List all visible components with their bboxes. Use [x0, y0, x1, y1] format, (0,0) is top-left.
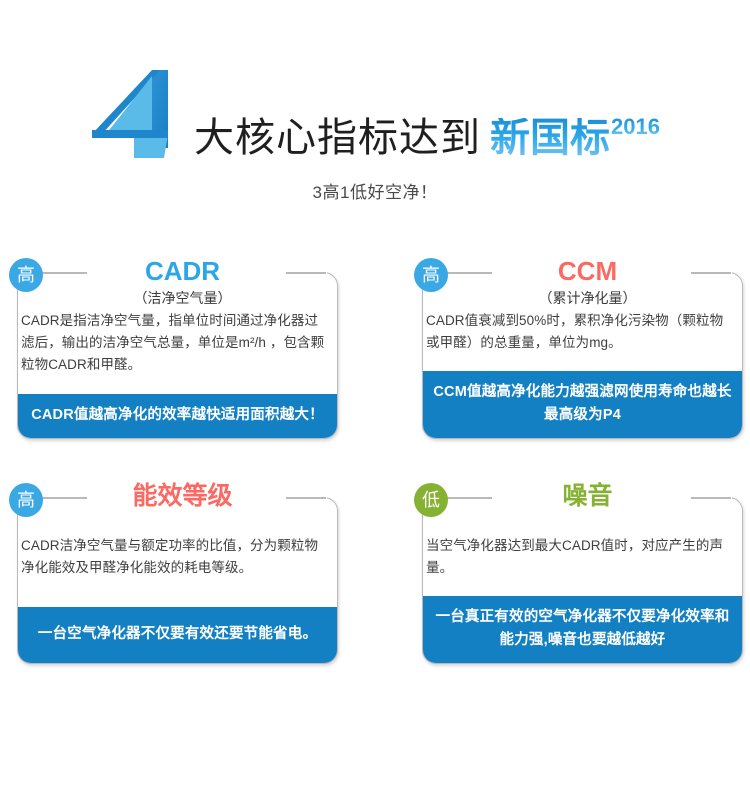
card-badge-high: 高 [414, 258, 448, 292]
card-banner: 一台空气净化器不仅要有效还要节能省电。 [18, 607, 337, 663]
card-body-text: CADR值衰减到50%时，累积净化污染物（颗粒物或甲醛）的总重量，单位为mg。 [426, 310, 735, 354]
card-frame: 一台真正有效的空气净化器不仅要净化效率和能力强,噪音也要越低越好 [422, 497, 743, 664]
metric-card-ccm: CCM值越高净化能力越强滤网使用寿命也越长最高级为P4 高 CCM （累计净化量… [410, 248, 745, 443]
hero-subtitle: 3高1低好空净！ [0, 178, 750, 203]
card-badge-low: 低 [414, 483, 448, 517]
page-header: 大核心指标达到 新国标 2016 3高1低好空净！ [0, 0, 750, 215]
hero-text: 大核心指标达到 新国标 2016 [194, 118, 660, 158]
metric-card-energy-efficiency: 一台空气净化器不仅要有效还要节能省电。 高 能效等级 CADR洁净空气量与额定功… [5, 473, 340, 668]
hero-title-accent: 新国标 [490, 118, 610, 158]
metric-card-noise: 一台真正有效的空气净化器不仅要净化效率和能力强,噪音也要越低越好 低 噪音 当空… [410, 473, 745, 668]
metrics-row-bottom: 一台空气净化器不仅要有效还要节能省电。 高 能效等级 CADR洁净空气量与额定功… [0, 473, 750, 668]
metrics-grid: CADR值越高净化的效率越快适用面积越大！ 高 CADR （洁净空气量） CAD… [0, 248, 750, 668]
card-badge-high: 高 [9, 258, 43, 292]
metric-card-cadr: CADR值越高净化的效率越快适用面积越大！ 高 CADR （洁净空气量） CAD… [5, 248, 340, 443]
card-banner: 一台真正有效的空气净化器不仅要净化效率和能力强,噪音也要越低越好 [423, 596, 742, 663]
card-badge-high: 高 [9, 483, 43, 517]
hero-title-row: 大核心指标达到 新国标 2016 [0, 72, 750, 162]
card-title: 噪音 [460, 481, 715, 511]
card-frame: 一台空气净化器不仅要有效还要节能省电。 [17, 497, 338, 664]
card-banner: CADR值越高净化的效率越快适用面积越大！ [18, 394, 337, 438]
hero-title-superscript: 2016 [611, 116, 660, 138]
numeral-four-logo [90, 68, 188, 160]
metrics-row-top: CADR值越高净化的效率越快适用面积越大！ 高 CADR （洁净空气量） CAD… [0, 248, 750, 443]
hero-title-main: 大核心指标达到 [194, 118, 481, 158]
card-subtitle: （洁净空气量） [55, 288, 310, 308]
card-title: 能效等级 [55, 481, 310, 511]
card-banner: CCM值越高净化能力越强滤网使用寿命也越长最高级为P4 [423, 371, 742, 438]
card-title: CADR [55, 256, 310, 286]
card-title: CCM [460, 256, 715, 286]
card-body-text: 当空气净化器达到最大CADR值时，对应产生的声量。 [426, 535, 735, 579]
card-body-text: CADR洁净空气量与额定功率的比值，分为颗粒物净化能效及甲醛净化能效的耗电等级。 [21, 535, 330, 579]
card-subtitle: （累计净化量） [460, 288, 715, 308]
card-body-text: CADR是指洁净空气量，指单位时间通过净化器过滤后，输出的洁净空气总量，单位是m… [21, 310, 330, 376]
